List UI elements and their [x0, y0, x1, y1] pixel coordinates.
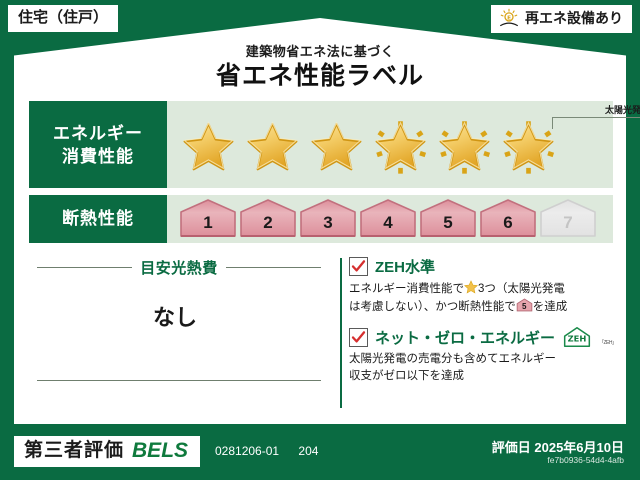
zeh-section: ZEH水準 エネルギー消費性能で3つ（太陽光発電 は考慮しない）、かつ断熱性能で…	[329, 252, 613, 412]
insulation-rating-area: 1234567	[167, 195, 613, 243]
heading-rule-left	[37, 267, 132, 268]
evaluation-date: 評価日 2025年6月10日	[492, 437, 624, 456]
star-rating	[177, 116, 560, 178]
net-zero-energy-block: ネット・ゼロ・エネルギー ZEH 「ZEH」 太陽光発電の売電分も含めてエネルギ…	[349, 326, 611, 385]
svg-text:ZEH: ZEH	[568, 333, 587, 343]
star-solar	[433, 116, 496, 178]
star-solar	[497, 116, 560, 178]
star-filled	[177, 116, 240, 178]
certificate-number: 0281206-01	[215, 444, 279, 458]
house-level-achieved: 3	[299, 198, 357, 240]
footer-bar: 第三者評価 BELS 0281206-01 204 評価日 2025年6月10日…	[0, 424, 640, 480]
checkbox-net-zero-energy[interactable]	[349, 328, 368, 347]
page-title: 省エネ性能ラベル	[14, 61, 626, 91]
net-zero-title: ネット・ゼロ・エネルギー	[375, 327, 555, 348]
energy-performance-label: エネルギー 消費性能	[29, 101, 167, 188]
insulation-performance-row: 断熱性能 1234567	[29, 195, 613, 243]
sun-solar-icon: E	[498, 8, 520, 29]
lower-section: 目安光熱費 なし ZEH水準	[29, 252, 613, 412]
solar-bracket: 太陽光発電(自家消費)分	[548, 104, 640, 130]
dwelling-type-badge: 住宅（住戸）	[8, 5, 118, 32]
certificate-extra-number: 204	[298, 444, 318, 458]
inline-star-icon	[464, 280, 478, 294]
insulation-performance-label: 断熱性能	[29, 195, 167, 243]
zeh-desc-part2: 3つ（太陽光発電	[478, 283, 565, 295]
checkbox-zeh-standard[interactable]	[349, 257, 368, 276]
house-level-scale: 1234567	[179, 198, 597, 240]
house-level-achieved: 5	[419, 198, 477, 240]
insulation-label-line1: 断熱性能	[62, 208, 134, 230]
house-level-value: 2	[239, 213, 297, 233]
zeh-house-logo-icon: ZEH	[562, 326, 592, 348]
svg-text:E: E	[507, 15, 511, 21]
zeh-standard-header: ZEH水準	[349, 256, 611, 277]
utility-cost-bottom-rule	[37, 380, 321, 381]
inline-house-badge: 5	[516, 298, 533, 312]
house-level-value: 7	[539, 213, 597, 233]
evaluation-hash: fe7b0936-54d4-4afb	[547, 455, 624, 465]
renewable-badge-label: 再エネ設備あり	[525, 9, 623, 28]
house-level-value: 5	[419, 213, 477, 233]
zeh-standard-block: ZEH水準 エネルギー消費性能で3つ（太陽光発電 は考慮しない）、かつ断熱性能で…	[349, 256, 611, 316]
inline-house-value: 5	[516, 302, 533, 312]
utility-cost-section: 目安光熱費 なし	[29, 252, 329, 412]
house-level-value: 4	[359, 213, 417, 233]
energy-label-line1: エネルギー	[53, 122, 143, 145]
energy-rating-area: 太陽光発電(自家消費)分	[167, 101, 613, 188]
certificate-number-group: 0281206-01 204	[215, 444, 318, 458]
house-level-value: 6	[479, 213, 537, 233]
house-level-achieved: 1	[179, 198, 237, 240]
roof-title-group: 建築物省エネ法に基づく 省エネ性能ラベル	[14, 44, 626, 91]
third-party-eval-label: 第三者評価	[24, 439, 124, 463]
star-solar	[369, 116, 432, 178]
zeh-desc-part4: を達成	[533, 301, 568, 313]
energy-label-line2: 消費性能	[62, 145, 134, 168]
label-body-card: エネルギー 消費性能 太陽光発電(自家消費)分 断熱性能 1234567	[14, 90, 626, 424]
house-level-empty: 7	[539, 198, 597, 240]
solar-bracket-label: 太陽光発電(自家消費)分	[548, 103, 640, 116]
star-filled	[241, 116, 304, 178]
utility-cost-heading-text: 目安光熱費	[132, 257, 226, 278]
star-filled	[305, 116, 368, 178]
zeh-desc-part3: は考慮しない）、かつ断熱性能で	[349, 301, 516, 313]
house-level-achieved: 6	[479, 198, 537, 240]
label-subtitle: 建築物省エネ法に基づく	[14, 44, 626, 60]
energy-label-poster: 建築物省エネ法に基づく 省エネ性能ラベル 住宅（住戸） E 再エネ設備あり	[0, 0, 640, 480]
solar-bracket-line	[552, 117, 640, 129]
net-zero-header: ネット・ゼロ・エネルギー ZEH 「ZEH」	[349, 326, 611, 348]
zeh-standard-title: ZEH水準	[375, 256, 435, 277]
utility-cost-heading: 目安光熱費	[37, 258, 321, 276]
zeh-logo-subtext: 「ZEH」	[599, 339, 617, 346]
net-zero-desc-line1: 太陽光発電の売電分も含めてエネルギー	[349, 353, 556, 365]
house-level-value: 3	[299, 213, 357, 233]
house-level-achieved: 2	[239, 198, 297, 240]
house-level-achieved: 4	[359, 198, 417, 240]
utility-cost-value: なし	[29, 300, 321, 332]
net-zero-desc-line2: 収支がゼロ以下を達成	[349, 370, 464, 382]
check-icon	[351, 330, 366, 345]
zeh-standard-description: エネルギー消費性能で3つ（太陽光発電 は考慮しない）、かつ断熱性能で5を達成	[349, 280, 611, 316]
bels-logo-box: 第三者評価 BELS	[14, 436, 200, 467]
zeh-desc-part1: エネルギー消費性能で	[349, 283, 464, 295]
renewable-equipment-badge: E 再エネ設備あり	[491, 5, 632, 33]
heading-rule-right	[226, 267, 321, 268]
bels-wordmark: BELS	[132, 439, 188, 463]
check-icon	[351, 259, 366, 274]
energy-performance-row: エネルギー 消費性能 太陽光発電(自家消費)分	[29, 101, 613, 188]
house-level-value: 1	[179, 213, 237, 233]
net-zero-description: 太陽光発電の売電分も含めてエネルギー 収支がゼロ以下を達成	[349, 351, 611, 385]
